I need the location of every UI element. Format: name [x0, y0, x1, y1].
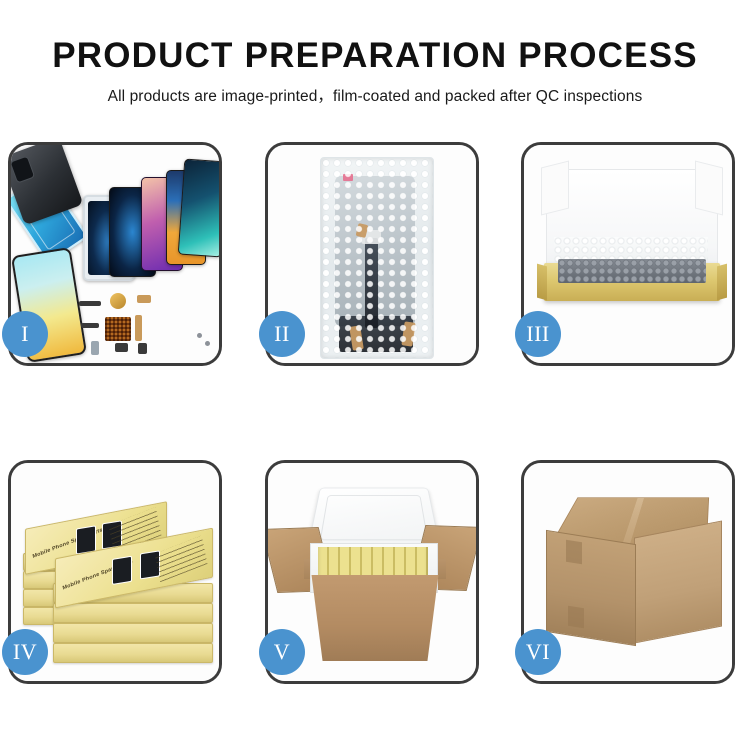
page-subtitle: All products are image-printed，film-coat… — [0, 75, 750, 106]
process-step-panel-1: I — [8, 142, 222, 366]
page-title: PRODUCT PREPARATION PROCESS — [0, 0, 750, 75]
battery-connector-component — [138, 343, 147, 354]
step-badge-6: VI — [515, 629, 561, 675]
pink-label-sticker — [343, 174, 353, 181]
screw-component — [197, 333, 202, 338]
step-badge-4: IV — [2, 629, 48, 675]
lcd-flex-cable — [365, 238, 378, 328]
shipping-carton — [542, 489, 724, 655]
product-preparation-process-infographic: PRODUCT PREPARATION PROCESS All products… — [0, 0, 750, 750]
stacked-box — [53, 623, 213, 643]
stacked-box — [53, 603, 213, 623]
bubble-wrap-bag — [320, 157, 434, 359]
earpiece-component — [79, 301, 101, 306]
camera-module-component — [115, 343, 128, 352]
carton-side-face — [634, 520, 722, 643]
stacked-box — [53, 643, 213, 663]
process-step-panel-2: II — [265, 142, 479, 366]
phone-teal-display — [178, 159, 219, 258]
box-stack: Mobile Phone Spare Parts Mobile Phone Sp… — [21, 487, 217, 667]
process-step-panel-6: VI — [521, 460, 735, 684]
header: PRODUCT PREPARATION PROCESS All products… — [0, 0, 750, 106]
sim-tray-component — [91, 341, 99, 355]
adhesive-tab — [401, 321, 415, 346]
carton-front-face — [546, 530, 636, 646]
process-step-panel-5: V — [265, 460, 479, 684]
ribbon-cable-component — [135, 315, 142, 341]
step-badge-2: II — [259, 311, 305, 357]
process-step-panel-3: III — [521, 142, 735, 366]
carton-body — [306, 575, 444, 661]
speaker-component — [110, 293, 126, 309]
carton-tape-patch — [568, 606, 584, 629]
process-step-panel-4: Mobile Phone Spare Parts Mobile Phone Sp… — [8, 460, 222, 684]
box-spec-lines — [155, 536, 208, 583]
gray-bubble-wrapped-contents — [558, 259, 706, 283]
screw-component — [205, 341, 210, 346]
step-badge-1: I — [2, 311, 48, 357]
step-badge-3: III — [515, 311, 561, 357]
small-chip-component — [81, 323, 99, 328]
carton-tape-patch — [566, 540, 582, 565]
logic-board-component — [105, 317, 131, 341]
process-steps-grid: I II — [8, 142, 742, 684]
box-screen-graphic — [112, 556, 132, 585]
step-badge-5: V — [259, 629, 305, 675]
flex-cable-component — [137, 295, 151, 303]
